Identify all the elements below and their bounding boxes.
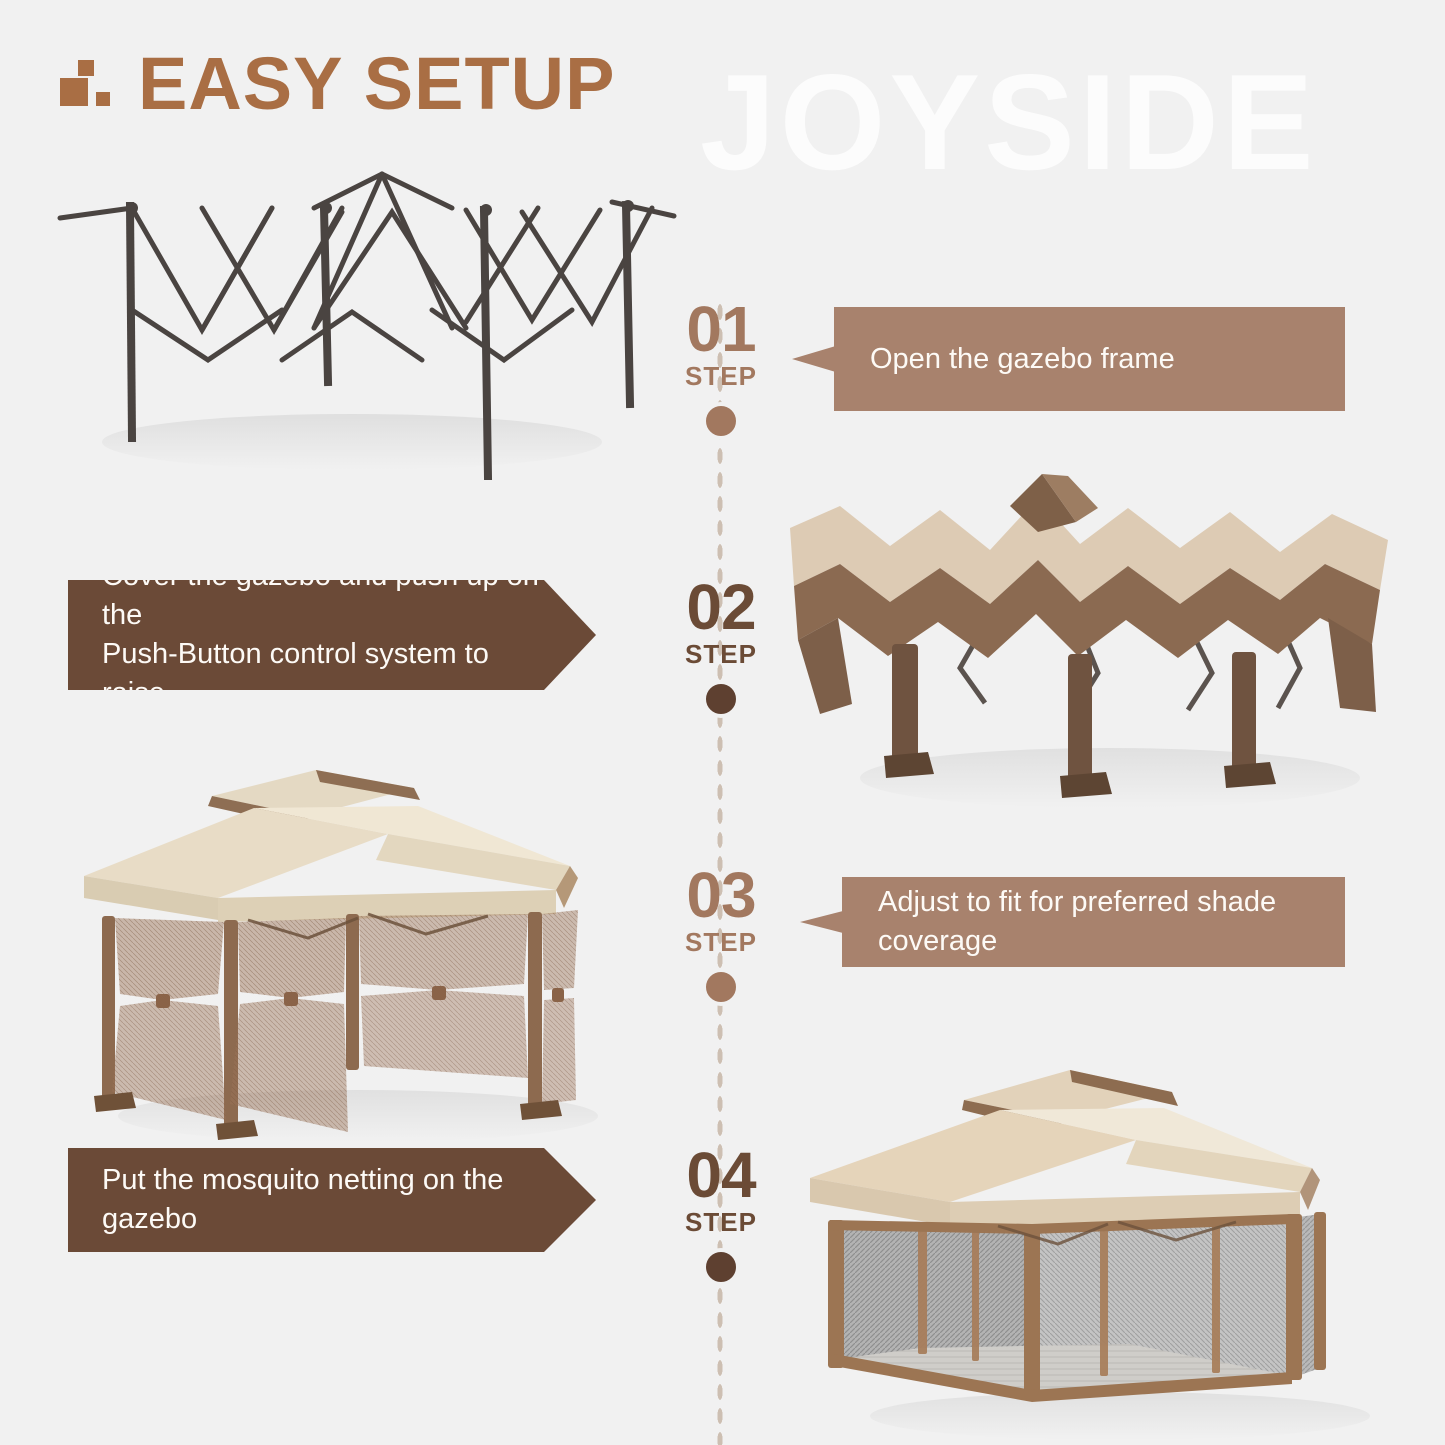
page-title: EASY SETUP (138, 52, 615, 116)
gazebo-canopy-draped-photo (780, 468, 1405, 820)
step-bullet-dot (702, 1248, 740, 1286)
step-number: 03 (636, 866, 806, 925)
gazebo-raised-curtains-tied-photo (58, 748, 640, 1150)
step-banner-text: Adjust to fit for preferred shade covera… (870, 883, 1311, 961)
step-word: STEP (636, 1207, 806, 1238)
step-word: STEP (636, 927, 806, 958)
step-bullet-dot (702, 968, 740, 1006)
step-marker-04: 04 STEP (636, 1146, 806, 1286)
step-banner-text: Put the mosquito netting on the gazebo (102, 1161, 540, 1239)
step-marker-03: 03 STEP (636, 866, 806, 1006)
step-banner-text: Open the gazebo frame (862, 340, 1175, 379)
step-banner-04[interactable]: Put the mosquito netting on the gazebo (68, 1148, 596, 1252)
stepped-blocks-icon (58, 54, 116, 116)
infographic-canvas: JOYSIDE EASY SETUP (0, 0, 1445, 1445)
step-word: STEP (636, 361, 806, 392)
step-number: 01 (636, 300, 806, 359)
step-banner-02[interactable]: Cover the gazebo and push up on the Push… (68, 580, 596, 690)
step-banner-text: Cover the gazebo and push up on the Push… (102, 557, 540, 712)
gazebo-mosquito-netting-closed-photo (800, 1048, 1422, 1440)
step-bullet-dot (702, 402, 740, 440)
step-number: 04 (636, 1146, 806, 1205)
step-banner-01[interactable]: Open the gazebo frame (792, 307, 1345, 411)
step-marker-01: 01 STEP (636, 300, 806, 440)
brand-watermark: JOYSIDE (700, 44, 1318, 200)
gazebo-folded-frame-photo (52, 160, 682, 480)
step-banner-03[interactable]: Adjust to fit for preferred shade covera… (800, 877, 1345, 967)
page-header: EASY SETUP (58, 52, 615, 116)
step-bullet-dot (702, 680, 740, 718)
